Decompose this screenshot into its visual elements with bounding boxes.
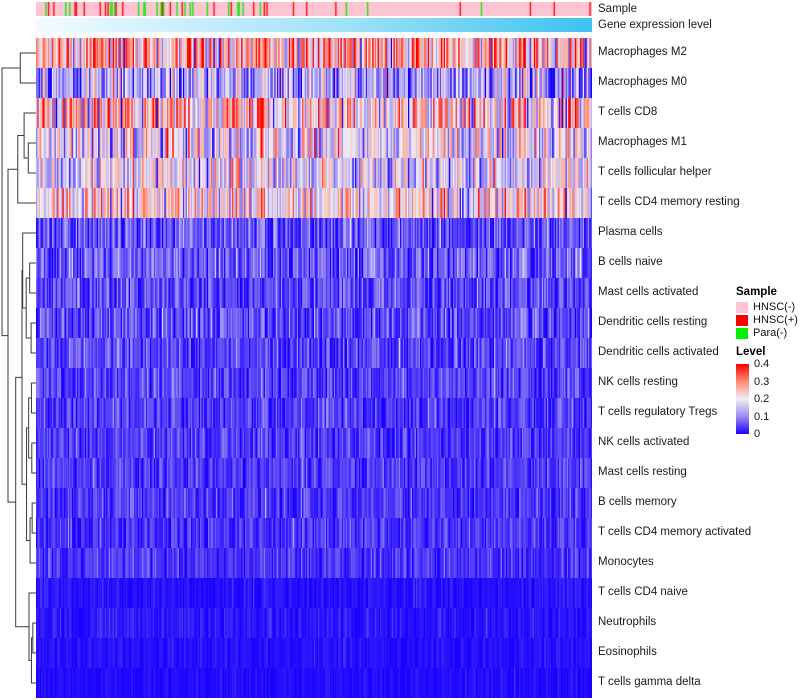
legend-color-swatch bbox=[736, 328, 748, 339]
row-label: T cells CD4 memory resting bbox=[598, 196, 740, 208]
row-label: Plasma cells bbox=[598, 226, 663, 238]
level-tick-label: 0.1 bbox=[754, 412, 769, 423]
heatmap-body bbox=[36, 38, 592, 698]
sample-legend-item: HNSC(+) bbox=[736, 314, 800, 326]
row-label: Dendritic cells activated bbox=[598, 346, 719, 358]
heatmap-canvas bbox=[36, 38, 592, 698]
row-label: Dendritic cells resting bbox=[598, 316, 707, 328]
sample-annotation-label: Sample bbox=[598, 2, 637, 16]
level-colorbar-wrap: 0.40.30.20.10 bbox=[736, 361, 796, 437]
legend-item-label: HNSC(+) bbox=[753, 315, 798, 326]
level-tick-label: 0.3 bbox=[754, 377, 769, 388]
row-label: T cells gamma delta bbox=[598, 676, 701, 688]
row-label: T cells regulatory Tregs bbox=[598, 406, 717, 418]
row-label: NK cells activated bbox=[598, 436, 689, 448]
sample-legend: Sample HNSC(-)HNSC(+)Para(-) bbox=[736, 286, 800, 339]
row-label: T cells follicular helper bbox=[598, 166, 712, 178]
row-label: Macrophages M2 bbox=[598, 46, 687, 58]
level-colorbar bbox=[736, 364, 749, 434]
legend-color-swatch bbox=[736, 315, 748, 326]
gene-expression-annotation-bar bbox=[36, 18, 592, 32]
row-label: Mast cells activated bbox=[598, 286, 698, 298]
row-label: T cells CD8 bbox=[598, 106, 657, 118]
row-label: B cells naive bbox=[598, 256, 663, 268]
sample-annotation-bar bbox=[36, 2, 592, 16]
row-label: NK cells resting bbox=[598, 376, 678, 388]
heatmap-figure: Sample Gene expression level Macrophages… bbox=[0, 0, 800, 700]
row-label: B cells memory bbox=[598, 496, 677, 508]
row-label: Macrophages M0 bbox=[598, 76, 687, 88]
level-tick-label: 0 bbox=[754, 429, 760, 440]
row-label: T cells CD4 memory activated bbox=[598, 526, 751, 538]
legend-color-swatch bbox=[736, 302, 748, 313]
sample-legend-item: Para(-) bbox=[736, 327, 800, 339]
row-dendrogram bbox=[0, 38, 36, 698]
row-label: Macrophages M1 bbox=[598, 136, 687, 148]
row-label: Neutrophils bbox=[598, 616, 656, 628]
level-legend: Level 0.40.30.20.10 bbox=[736, 346, 800, 437]
row-label: Mast cells resting bbox=[598, 466, 687, 478]
row-label: Monocytes bbox=[598, 556, 654, 568]
row-label: Eosinophils bbox=[598, 646, 657, 658]
gene-expression-annotation-label: Gene expression level bbox=[598, 18, 712, 32]
sample-legend-title: Sample bbox=[736, 286, 800, 299]
level-tick-label: 0.2 bbox=[754, 394, 769, 405]
level-tick-label: 0.4 bbox=[754, 359, 769, 370]
row-label: T cells CD4 naive bbox=[598, 586, 688, 598]
legend-item-label: HNSC(-) bbox=[753, 302, 795, 313]
legend-item-label: Para(-) bbox=[753, 328, 787, 339]
legend-panel: Sample HNSC(-)HNSC(+)Para(-) Level 0.40.… bbox=[736, 286, 800, 437]
sample-legend-item: HNSC(-) bbox=[736, 301, 800, 313]
